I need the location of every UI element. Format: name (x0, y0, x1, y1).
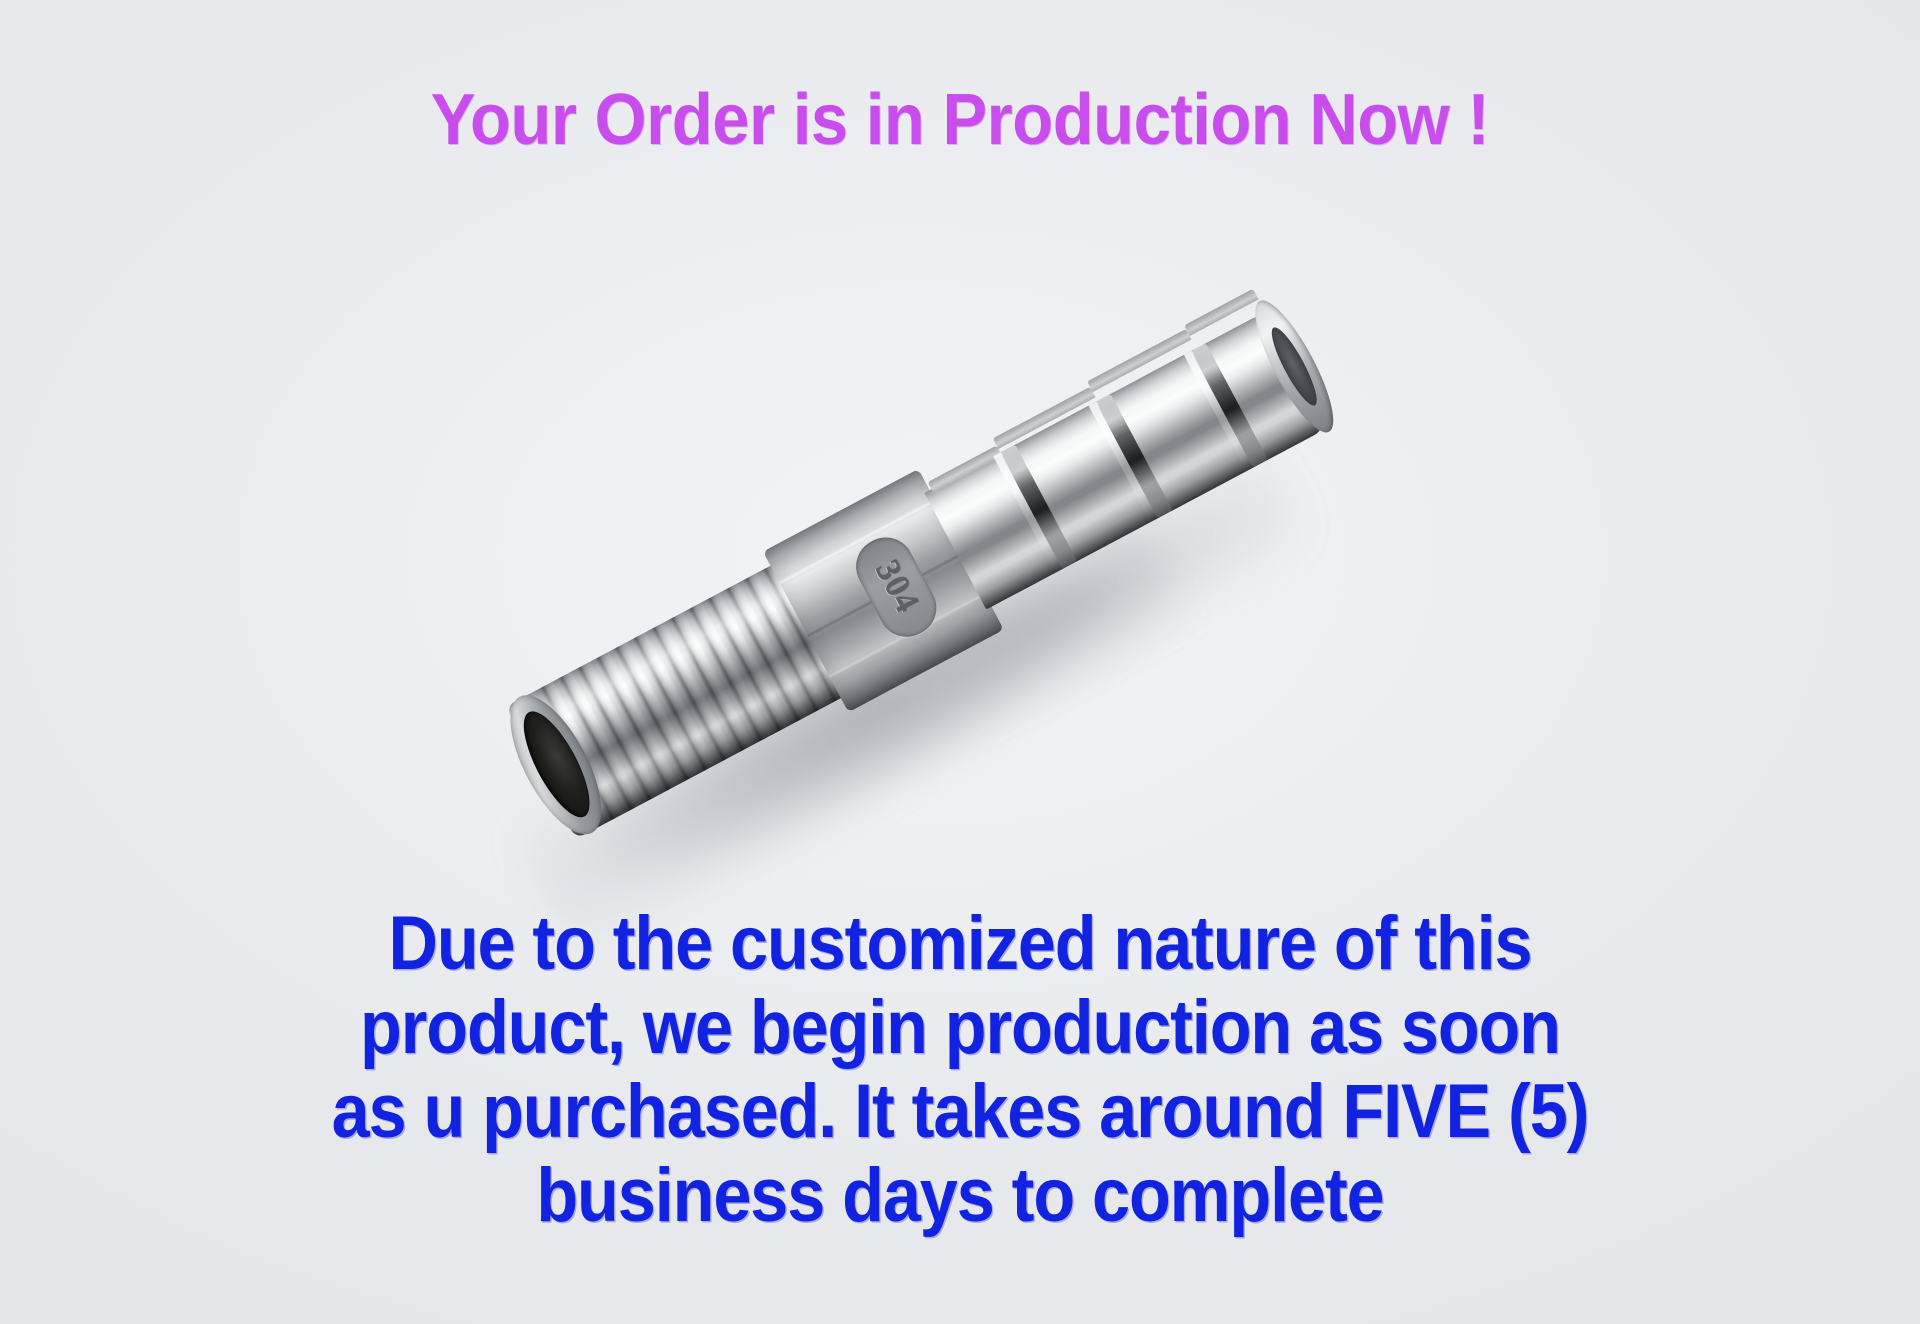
body-copy-line-1: Due to the customized nature of this (96, 902, 1824, 986)
body-copy-line-4: business days to complete (96, 1154, 1824, 1238)
product-photo: 304 (430, 300, 1510, 920)
body-copy: Due to the customized nature of this pro… (96, 902, 1824, 1238)
promotional-banner: Your Order is in Production Now ! 304 (0, 0, 1920, 1324)
body-copy-line-2: product, we begin production as soon (96, 986, 1824, 1070)
headline-text: Your Order is in Production Now ! (67, 84, 1853, 156)
body-copy-line-3: as u purchased. It takes around FIVE (5) (96, 1070, 1824, 1154)
